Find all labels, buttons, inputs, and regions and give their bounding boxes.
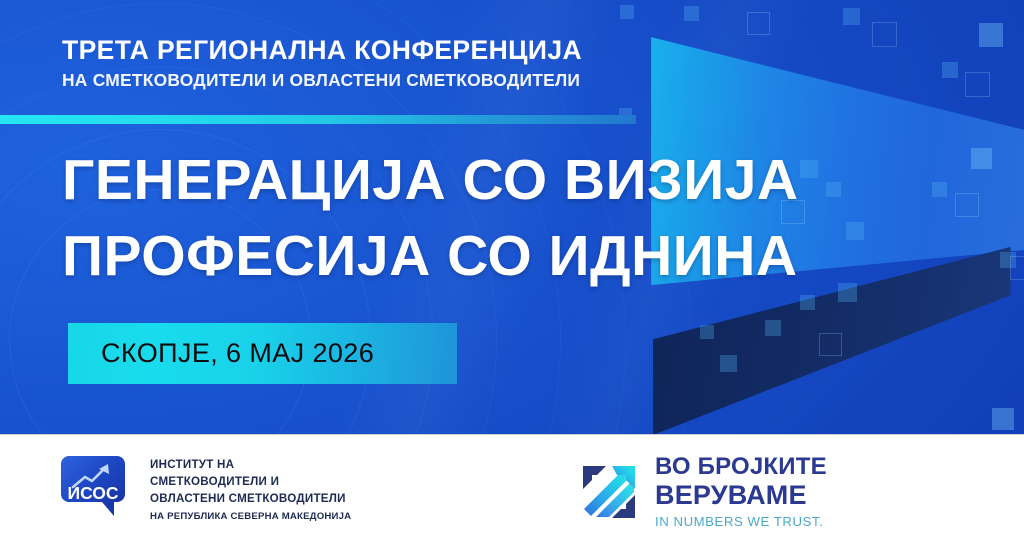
square-decoration <box>992 408 1014 430</box>
title-line-1: ГЕНЕРАЦИЈА СО ВИЗИЈА <box>62 148 799 212</box>
square-decoration <box>1010 256 1024 280</box>
arrow-square-icon <box>576 459 642 525</box>
svg-text:ИСОС: ИСОС <box>67 483 118 503</box>
isos-logo[interactable]: ИСОС ИНСТИТУТ НА СМЕТКОВОДИТЕЛИ И ОВЛАСТ… <box>59 454 351 524</box>
trust-text-line-2: ВЕРУВАМЕ <box>655 481 827 509</box>
footer-section: ИСОС ИНСТИТУТ НА СМЕТКОВОДИТЕЛИ И ОВЛАСТ… <box>0 434 1024 536</box>
isos-text-line-3: ОВЛАСТЕНИ СМЕТКОВОДИТЕЛИ <box>150 491 351 508</box>
square-decoration <box>942 62 958 78</box>
isos-text-line-1: ИНСТИТУТ НА <box>150 457 351 474</box>
in-numbers-we-trust-logo[interactable]: ВО БРОЈКИТЕ ВЕРУВАМЕ IN NUMBERS WE TRUST… <box>576 455 827 529</box>
date-location-badge: СКОПЈЕ, 6 МАЈ 2026 <box>68 323 457 384</box>
isos-mark-icon: ИСОС <box>59 454 135 520</box>
title-line-2: ПРОФЕСИЈА СО ИДНИНА <box>62 219 892 295</box>
isos-text-line-4: НА РЕПУБЛИКА СЕВЕРНА МАКЕДОНИЈА <box>150 510 351 524</box>
trust-logo-text: ВО БРОЈКИТЕ ВЕРУВАМЕ IN NUMBERS WE TRUST… <box>642 455 827 529</box>
trust-text-line-1: ВО БРОЈКИТЕ <box>655 455 827 480</box>
isos-logo-text: ИНСТИТУТ НА СМЕТКОВОДИТЕЛИ И ОВЛАСТЕНИ С… <box>135 454 351 524</box>
square-decoration <box>684 6 699 21</box>
date-location-text: СКОПЈЕ, 6 МАЈ 2026 <box>68 338 374 369</box>
square-decoration <box>843 8 860 25</box>
cyan-divider-bar <box>0 115 636 124</box>
square-decoration <box>747 12 770 35</box>
kicker-line-1: ТРЕТА РЕГИОНАЛНА КОНФЕРЕНЦИЈА <box>62 36 682 66</box>
square-decoration <box>979 23 1003 47</box>
hero-section: ТРЕТА РЕГИОНАЛНА КОНФЕРЕНЦИЈА НА СМЕТКОВ… <box>0 0 1024 434</box>
isos-text-line-2: СМЕТКОВОДИТЕЛИ И <box>150 474 351 491</box>
trust-tagline: IN NUMBERS WE TRUST. <box>655 514 827 529</box>
page-title: ГЕНЕРАЦИЈА СО ВИЗИЈА ПРОФЕСИЈА СО ИДНИНА <box>62 143 892 295</box>
square-decoration <box>872 22 897 47</box>
conference-banner: ТРЕТА РЕГИОНАЛНА КОНФЕРЕНЦИЈА НА СМЕТКОВ… <box>0 0 1024 536</box>
square-decoration <box>965 72 990 97</box>
conference-kicker: ТРЕТА РЕГИОНАЛНА КОНФЕРЕНЦИЈА НА СМЕТКОВ… <box>62 36 682 90</box>
square-decoration <box>620 5 634 19</box>
kicker-line-2: НА СМЕТКОВОДИТЕЛИ И ОВЛАСТЕНИ СМЕТКОВОДИ… <box>62 70 682 90</box>
